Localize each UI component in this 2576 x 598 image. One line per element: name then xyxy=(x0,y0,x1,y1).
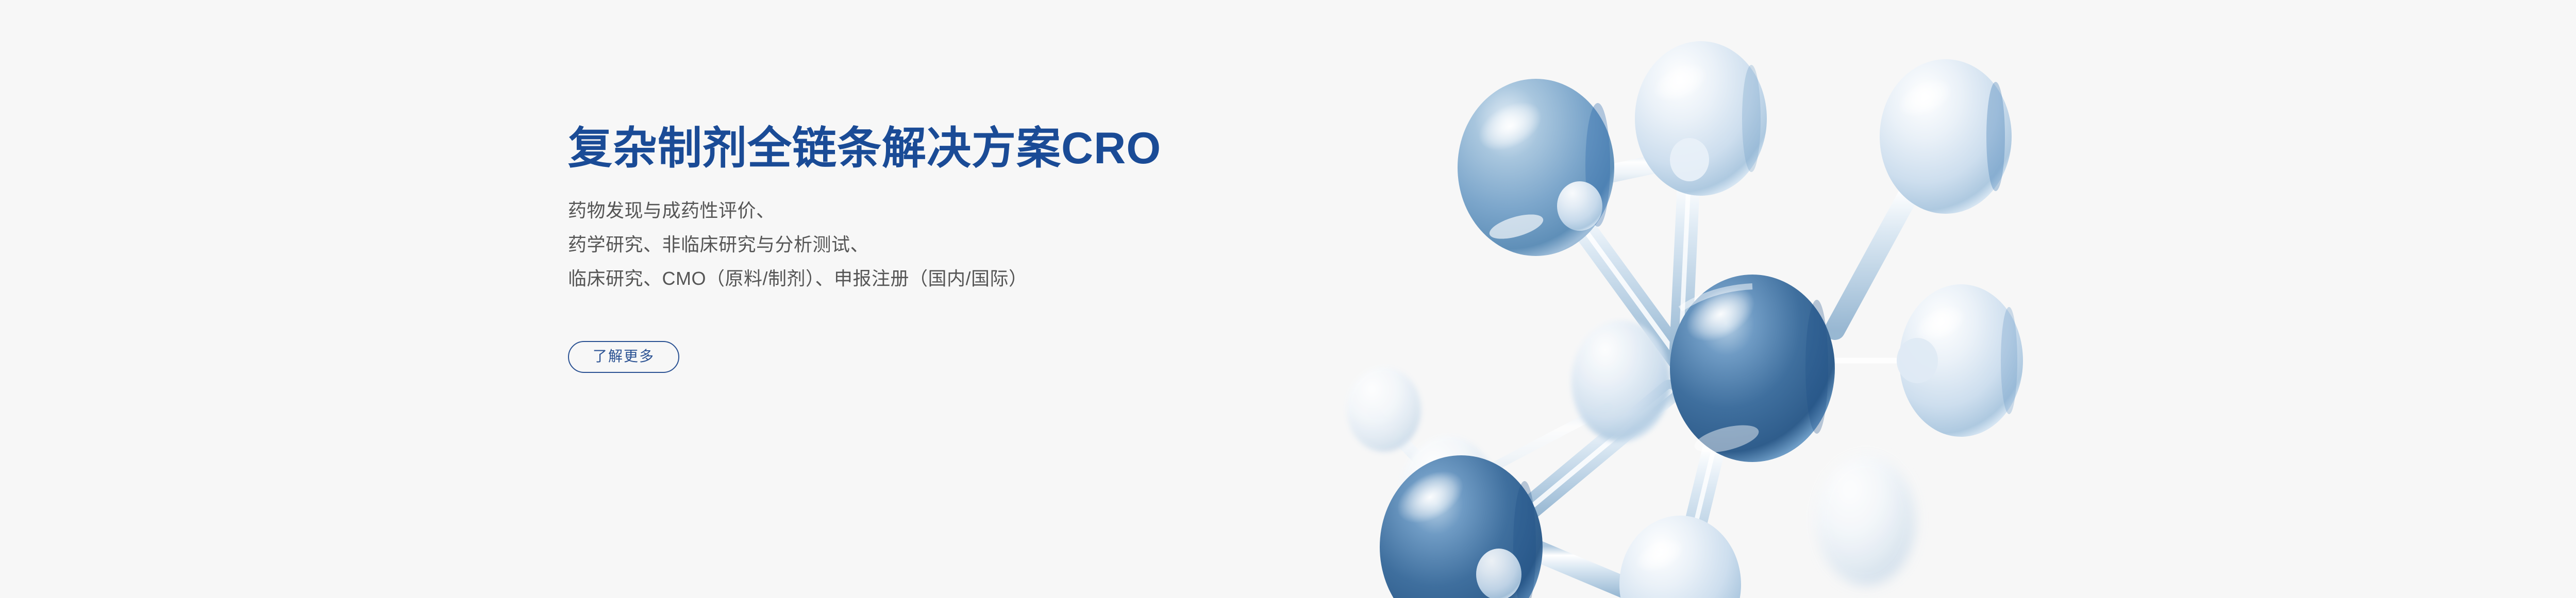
atom-bottom xyxy=(1619,516,1741,598)
atom-lower-left xyxy=(1380,455,1543,598)
atom-center xyxy=(1670,275,1835,462)
hero-subtitle-list: 药物发现与成药性评价、 药学研究、非临床研究与分析测试、 临床研究、CMO（原料… xyxy=(568,194,1444,296)
hero-subtitle-line-2: 药学研究、非临床研究与分析测试、 xyxy=(568,228,1444,262)
molecule-atoms xyxy=(1380,41,2023,598)
cta-wrapper: 了解更多 xyxy=(568,341,1444,373)
hero-banner: 复杂制剂全链条解决方案CRO 药物发现与成药性评价、 药学研究、非临床研究与分析… xyxy=(0,0,2576,598)
hero-subtitle-line-1: 药物发现与成药性评价、 xyxy=(568,194,1444,228)
hero-subtitle-line-3: 临床研究、CMO（原料/制剂）、申报注册（国内/国际） xyxy=(568,262,1444,296)
page-title: 复杂制剂全链条解决方案CRO xyxy=(568,122,1444,175)
atom-center-right xyxy=(1897,284,2023,437)
molecule-bonds xyxy=(1374,142,1928,598)
atom-upper-right xyxy=(1880,59,2012,214)
hero-text-block: 复杂制剂全链条解决方案CRO 药物发现与成药性评价、 药学研究、非临床研究与分析… xyxy=(568,122,1444,373)
learn-more-button[interactable]: 了解更多 xyxy=(568,341,679,373)
atom-upper-left xyxy=(1458,79,1614,256)
atom-top-middle xyxy=(1635,41,1767,196)
